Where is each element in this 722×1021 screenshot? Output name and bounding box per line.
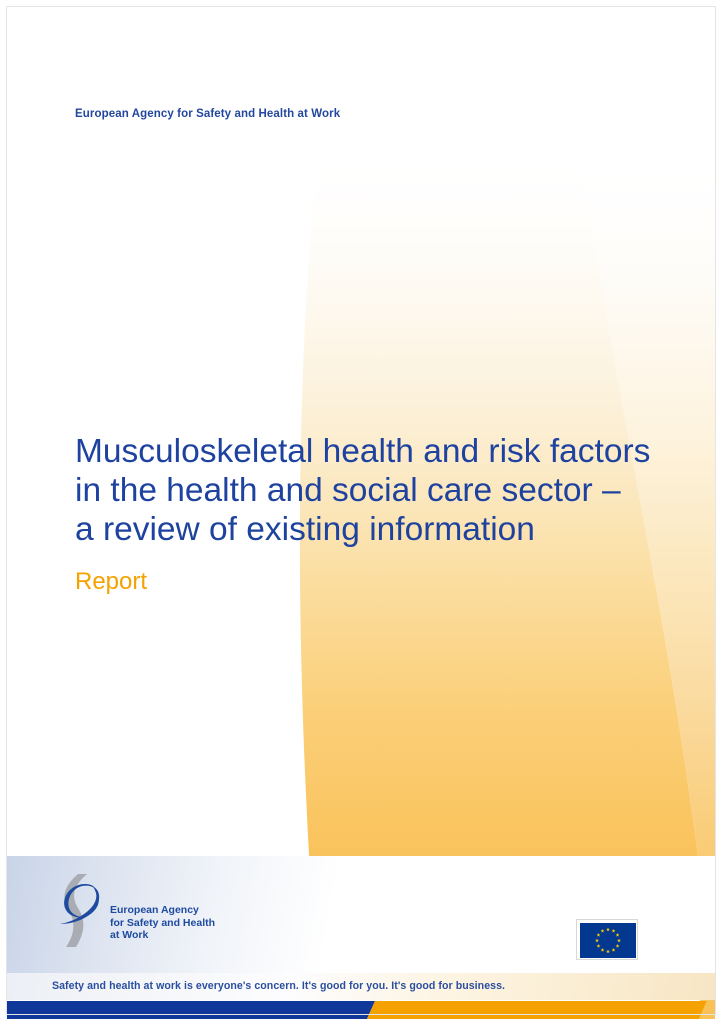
document-cover-page: European Agency for Safety and Health at…: [0, 0, 722, 1021]
flag-stars: [580, 923, 636, 958]
bottom-bar-blue-segment: [7, 1001, 375, 1019]
page-title: Musculoskeletal health and risk factors …: [75, 432, 675, 549]
eu-osha-logo-text: European Agency for Safety and Health at…: [110, 904, 215, 942]
bottom-color-bar: [7, 1001, 715, 1019]
eu-osha-logo: European Agency for Safety and Health at…: [48, 872, 208, 950]
bottom-bar-orange-segment: [367, 1001, 707, 1019]
flag-field: [580, 923, 636, 958]
title-line-2: in the health and social care sector –: [75, 471, 675, 510]
document-type-subtitle: Report: [75, 568, 147, 596]
logo-text-line-2: for Safety and Health: [110, 917, 215, 930]
logo-text-line-3: at Work: [110, 929, 215, 942]
eu-osha-logo-mark: [48, 872, 106, 950]
european-union-flag: [576, 919, 638, 960]
tagline: Safety and health at work is everyone's …: [52, 980, 505, 992]
logo-text-line-1: European Agency: [110, 904, 215, 917]
title-line-3: a review of existing information: [75, 510, 675, 549]
publisher-name: European Agency for Safety and Health at…: [75, 108, 340, 120]
title-line-1: Musculoskeletal health and risk factors: [75, 432, 675, 471]
